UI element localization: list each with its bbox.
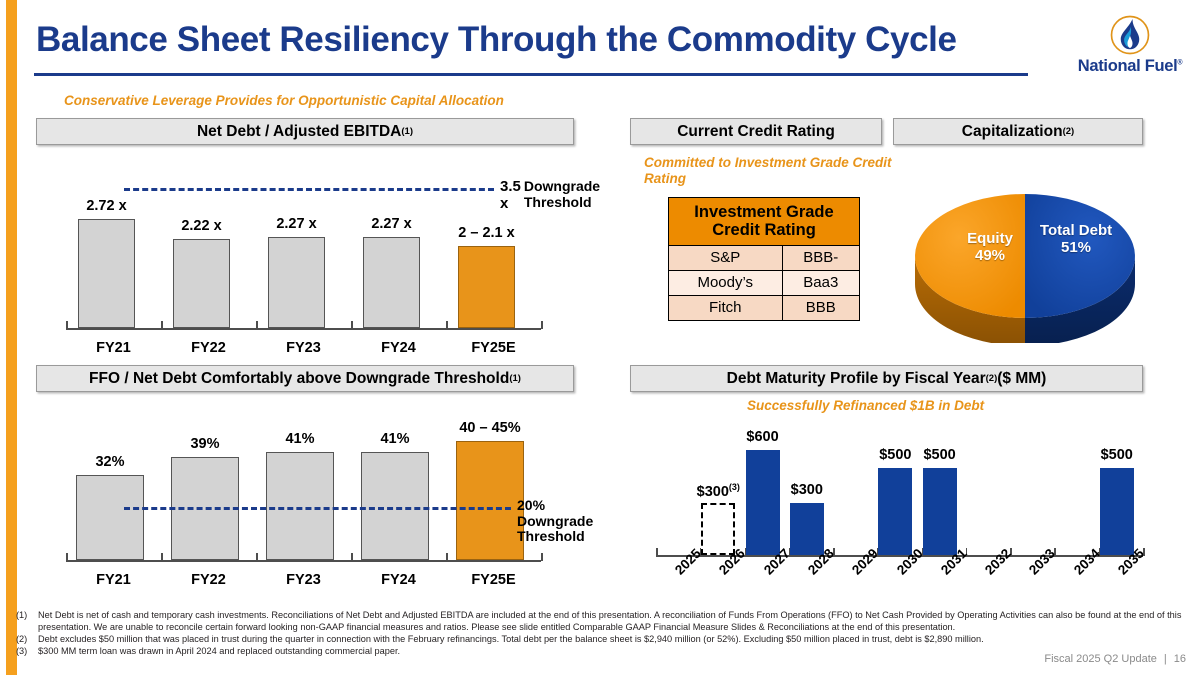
chart-net-debt-ebitda: 2.72 xFY212.22 xFY222.27 xFY232.27 xFY24… [36,160,576,350]
footnote-number: (1) [16,609,38,633]
axis-tick [66,321,68,329]
bar-value-label: 41% [345,431,445,447]
footnotes-block: (1)Net Debt is net of cash and temporary… [16,609,1186,658]
bar-2028 [790,503,824,556]
footnote-text: Debt excludes $50 million that was place… [38,633,1186,645]
bar-value-label: 39% [155,436,255,452]
pie-label-equity: Equity49% [945,230,1035,264]
panel-header-net-debt: Net Debt / Adjusted EBITDA(1) [36,118,574,145]
axis-tick [446,321,448,329]
x-axis-line [66,560,541,562]
category-label-FY24: FY24 [349,572,449,588]
bar-value-label: 32% [60,454,160,470]
downgrade-threshold-label: 20%DowngradeThreshold [517,498,593,545]
slide-footer: Fiscal 2025 Q2 Update|16 [1044,653,1186,665]
bar-FY21 [78,219,135,328]
rating-agency: S&P [669,245,783,270]
chart-debt-maturity: 2025$300(3)2026$6002027$30020282029$5002… [648,415,1158,600]
investment-grade-table-header: Investment Grade Credit Rating [669,198,860,246]
bar-FY22 [173,239,230,328]
bar-value-label: 2.27 x [342,216,442,232]
bar-2026 [701,503,735,556]
bar-value-label: $300 [757,482,857,498]
category-label-2034: 2034 [1071,546,1103,578]
bar-FY23 [266,452,334,560]
bar-FY21 [76,475,144,560]
company-logo: National Fuel® [1068,14,1192,86]
footnote-number: (3) [16,645,38,657]
bar-value-label: 40 – 45% [440,420,540,436]
axis-tick [656,548,658,556]
rating-value: BBB- [782,245,859,270]
footnote-text: $300 MM term loan was drawn in April 202… [38,645,1186,657]
category-label-FY21: FY21 [64,572,164,588]
flame-droplet-icon [1109,14,1151,56]
investment-grade-table: Investment Grade Credit Rating S&PBBB-Mo… [668,197,860,321]
category-label-2025: 2025 [672,546,704,578]
axis-tick [446,553,448,561]
pie-label-total-debt: Total Debt51% [1037,222,1115,256]
bar-value-label: 2.72 x [57,198,157,214]
downgrade-threshold-line [124,507,511,510]
panel-header-ffo: FFO / Net Debt Comfortably above Downgra… [36,365,574,392]
bar-value-label: $500 [890,447,990,463]
axis-tick [66,553,68,561]
bar-FY24 [361,452,429,560]
axis-tick [541,553,543,561]
rating-value: Baa3 [782,270,859,295]
panel-header-capitalization: Capitalization(2) [893,118,1143,145]
bar-2030 [878,468,912,556]
downgrade-threshold-line [124,188,494,191]
axis-tick [351,553,353,561]
rating-agency: Fitch [669,295,783,320]
footnote-row: (2)Debt excludes $50 million that was pl… [16,633,1186,645]
downgrade-threshold-label: 3.5 xDowngradeThreshold [500,179,600,213]
axis-tick [161,321,163,329]
axis-tick [351,321,353,329]
category-label-FY25E: FY25E [444,340,544,356]
footnote-number: (2) [16,633,38,645]
footnote-row: (1)Net Debt is net of cash and temporary… [16,609,1186,633]
bar-FY23 [268,237,325,328]
page-title: Balance Sheet Resiliency Through the Com… [36,20,957,60]
refinance-annotation: Successfully Refinanced $1B in Debt [747,398,984,413]
bar-value-label: $600 [713,429,813,445]
category-label-FY22: FY22 [159,572,259,588]
bar-value-label: 2.27 x [247,216,347,232]
rating-value: BBB [782,295,859,320]
bar-2031 [923,468,957,556]
category-label-FY21: FY21 [64,340,164,356]
x-axis-line [66,328,541,330]
credit-rating-row: Moody’sBaa3 [669,270,860,295]
footnote-text: Net Debt is net of cash and temporary ca… [38,609,1186,633]
category-label-FY23: FY23 [254,340,354,356]
bar-2027 [746,450,780,555]
bar-FY25E [458,246,515,328]
bar-FY24 [363,237,420,328]
bar-2035 [1100,468,1134,556]
footer-label: Fiscal 2025 Q2 Update [1044,653,1157,665]
chart-ffo-net-debt: 32%FY2139%FY2241%FY2341%FY2440 – 45%FY25… [36,400,576,585]
footnote-row: (3)$300 MM term loan was drawn in April … [16,645,1186,657]
axis-tick [256,321,258,329]
axis-tick [161,553,163,561]
title-underline [34,73,1028,76]
page-number: 16 [1174,653,1186,665]
category-label-FY23: FY23 [254,572,354,588]
panel-header-credit-rating: Current Credit Rating [630,118,882,145]
credit-rating-row: S&PBBB- [669,245,860,270]
rating-agency: Moody’s [669,270,783,295]
slide-subtitle: Conservative Leverage Provides for Oppor… [64,93,504,108]
category-label-FY25E: FY25E [444,572,544,588]
bar-value-label: 2 – 2.1 x [437,225,537,241]
bar-value-label: 41% [250,431,350,447]
category-label-FY22: FY22 [159,340,259,356]
axis-tick [256,553,258,561]
credit-rating-callout: Committed to Investment Grade Credit Rat… [644,155,894,187]
category-label-2033: 2033 [1026,546,1058,578]
category-label-2029: 2029 [849,546,881,578]
credit-rating-row: FitchBBB [669,295,860,320]
panel-header-debt-maturity: Debt Maturity Profile by Fiscal Year(2) … [630,365,1143,392]
left-accent-rail [6,0,17,675]
chart-capitalization-pie: Equity49% Total Debt51% [905,168,1145,343]
bar-FY25E [456,441,524,560]
category-label-2032: 2032 [982,546,1014,578]
bar-value-label: $500 [1067,447,1167,463]
category-label-FY24: FY24 [349,340,449,356]
bar-value-label: 2.22 x [152,218,252,234]
logo-wordmark: National Fuel® [1078,57,1183,76]
axis-tick [541,321,543,329]
